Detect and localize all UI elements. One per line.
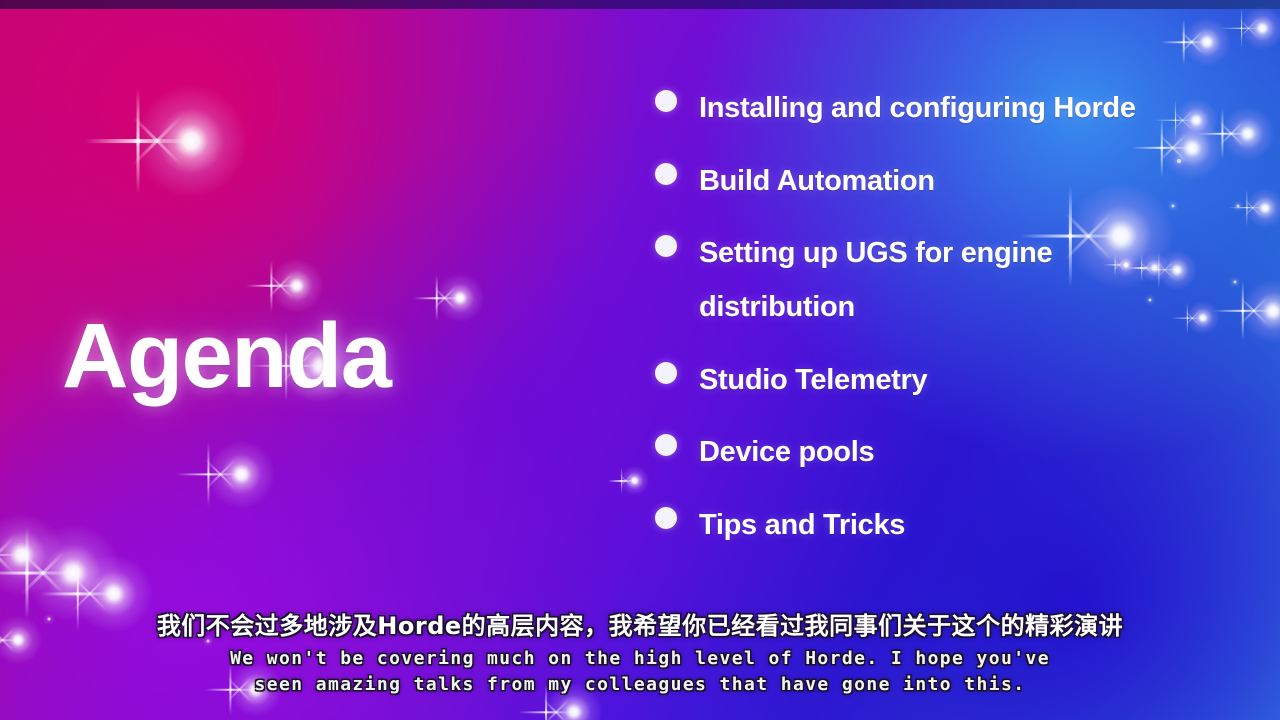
video-top-edge-band	[0, 0, 1280, 9]
presentation-slide: Agenda Installing and configuring HordeB…	[0, 0, 1280, 720]
agenda-item-label: Studio Telemetry	[699, 354, 927, 408]
agenda-item: Studio Telemetry	[655, 354, 1215, 408]
subtitle-english: We won't be covering much on the high le…	[0, 646, 1280, 698]
sparkle-speck	[1237, 205, 1240, 208]
bullet-dot-icon	[655, 434, 677, 456]
bullet-dot-icon	[655, 362, 677, 384]
sparkle-speck	[1234, 281, 1237, 284]
agenda-item-label: Tips and Tricks	[699, 499, 905, 553]
slide-title: Agenda	[62, 310, 390, 402]
bullet-dot-icon	[655, 235, 677, 257]
agenda-list: Installing and configuring HordeBuild Au…	[655, 82, 1215, 571]
agenda-item: Setting up UGS for engine distribution	[655, 227, 1215, 334]
agenda-item: Build Automation	[655, 155, 1215, 209]
agenda-item-label: Device pools	[699, 426, 874, 480]
agenda-item: Installing and configuring Horde	[655, 82, 1215, 136]
agenda-item: Device pools	[655, 426, 1215, 480]
subtitle-overlay: 我们不会过多地涉及Horde的高层内容，我希望你已经看过我同事们关于这个的精彩演…	[0, 611, 1280, 698]
subtitle-english-line-2: seen amazing talks from my colleagues th…	[0, 672, 1280, 698]
bullet-dot-icon	[655, 90, 677, 112]
bullet-dot-icon	[655, 163, 677, 185]
bullet-dot-icon	[655, 507, 677, 529]
agenda-item: Tips and Tricks	[655, 499, 1215, 553]
sparkle-speck	[632, 478, 636, 482]
subtitle-english-line-1: We won't be covering much on the high le…	[0, 646, 1280, 672]
agenda-item-label: Installing and configuring Horde	[699, 82, 1136, 136]
agenda-item-label: Build Automation	[699, 155, 935, 209]
agenda-item-label: Setting up UGS for engine distribution	[699, 227, 1215, 334]
subtitle-chinese: 我们不会过多地涉及Horde的高层内容，我希望你已经看过我同事们关于这个的精彩演…	[0, 611, 1280, 641]
